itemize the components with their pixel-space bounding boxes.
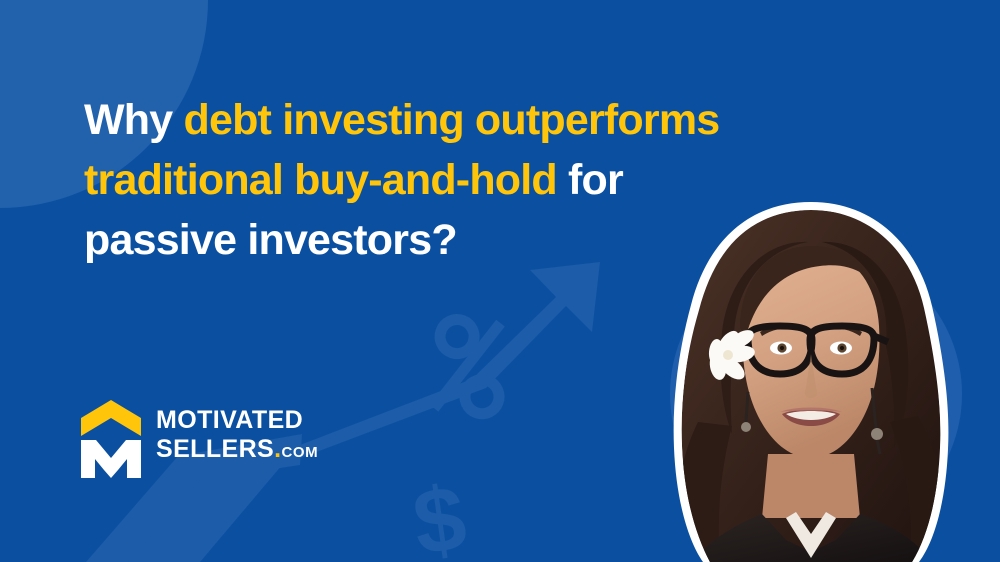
brand-logo-line-1: MOTIVATED bbox=[156, 406, 356, 435]
brand-logo[interactable]: MOTIVATED SELLERS.COM bbox=[80, 396, 350, 478]
brand-logo-tld: COM bbox=[281, 444, 318, 461]
dollar-sign-icon: $ bbox=[407, 467, 472, 562]
neck bbox=[762, 454, 860, 518]
headline-line-2-yellow: traditional buy-and-hold bbox=[84, 156, 568, 204]
headline-line-3-white: passive investors? bbox=[84, 216, 457, 264]
house-chevron-m-monogram-icon bbox=[80, 396, 142, 478]
page-title: Why debt investing outperforms tradition… bbox=[84, 90, 884, 270]
headline-line-1: Why debt investing outperforms bbox=[84, 90, 884, 150]
headline-line-2: traditional buy-and-hold for bbox=[84, 150, 884, 210]
pupil-right bbox=[840, 346, 844, 350]
svg-text:$: $ bbox=[407, 467, 472, 562]
brand-logo-text: MOTIVATED SELLERS.COM bbox=[156, 406, 356, 467]
pupil-left bbox=[780, 346, 784, 350]
headline-line-1-yellow: debt investing outperforms bbox=[184, 96, 720, 144]
headline-line-1-white: Why bbox=[84, 96, 184, 144]
headline-line-3: passive investors? bbox=[84, 210, 884, 270]
brand-logo-sellers: SELLERS bbox=[156, 435, 274, 463]
brand-logo-line-2: SELLERS.COM bbox=[156, 435, 356, 467]
headline-line-2-white: for bbox=[568, 156, 623, 204]
promo-card: $ bbox=[0, 0, 1000, 562]
